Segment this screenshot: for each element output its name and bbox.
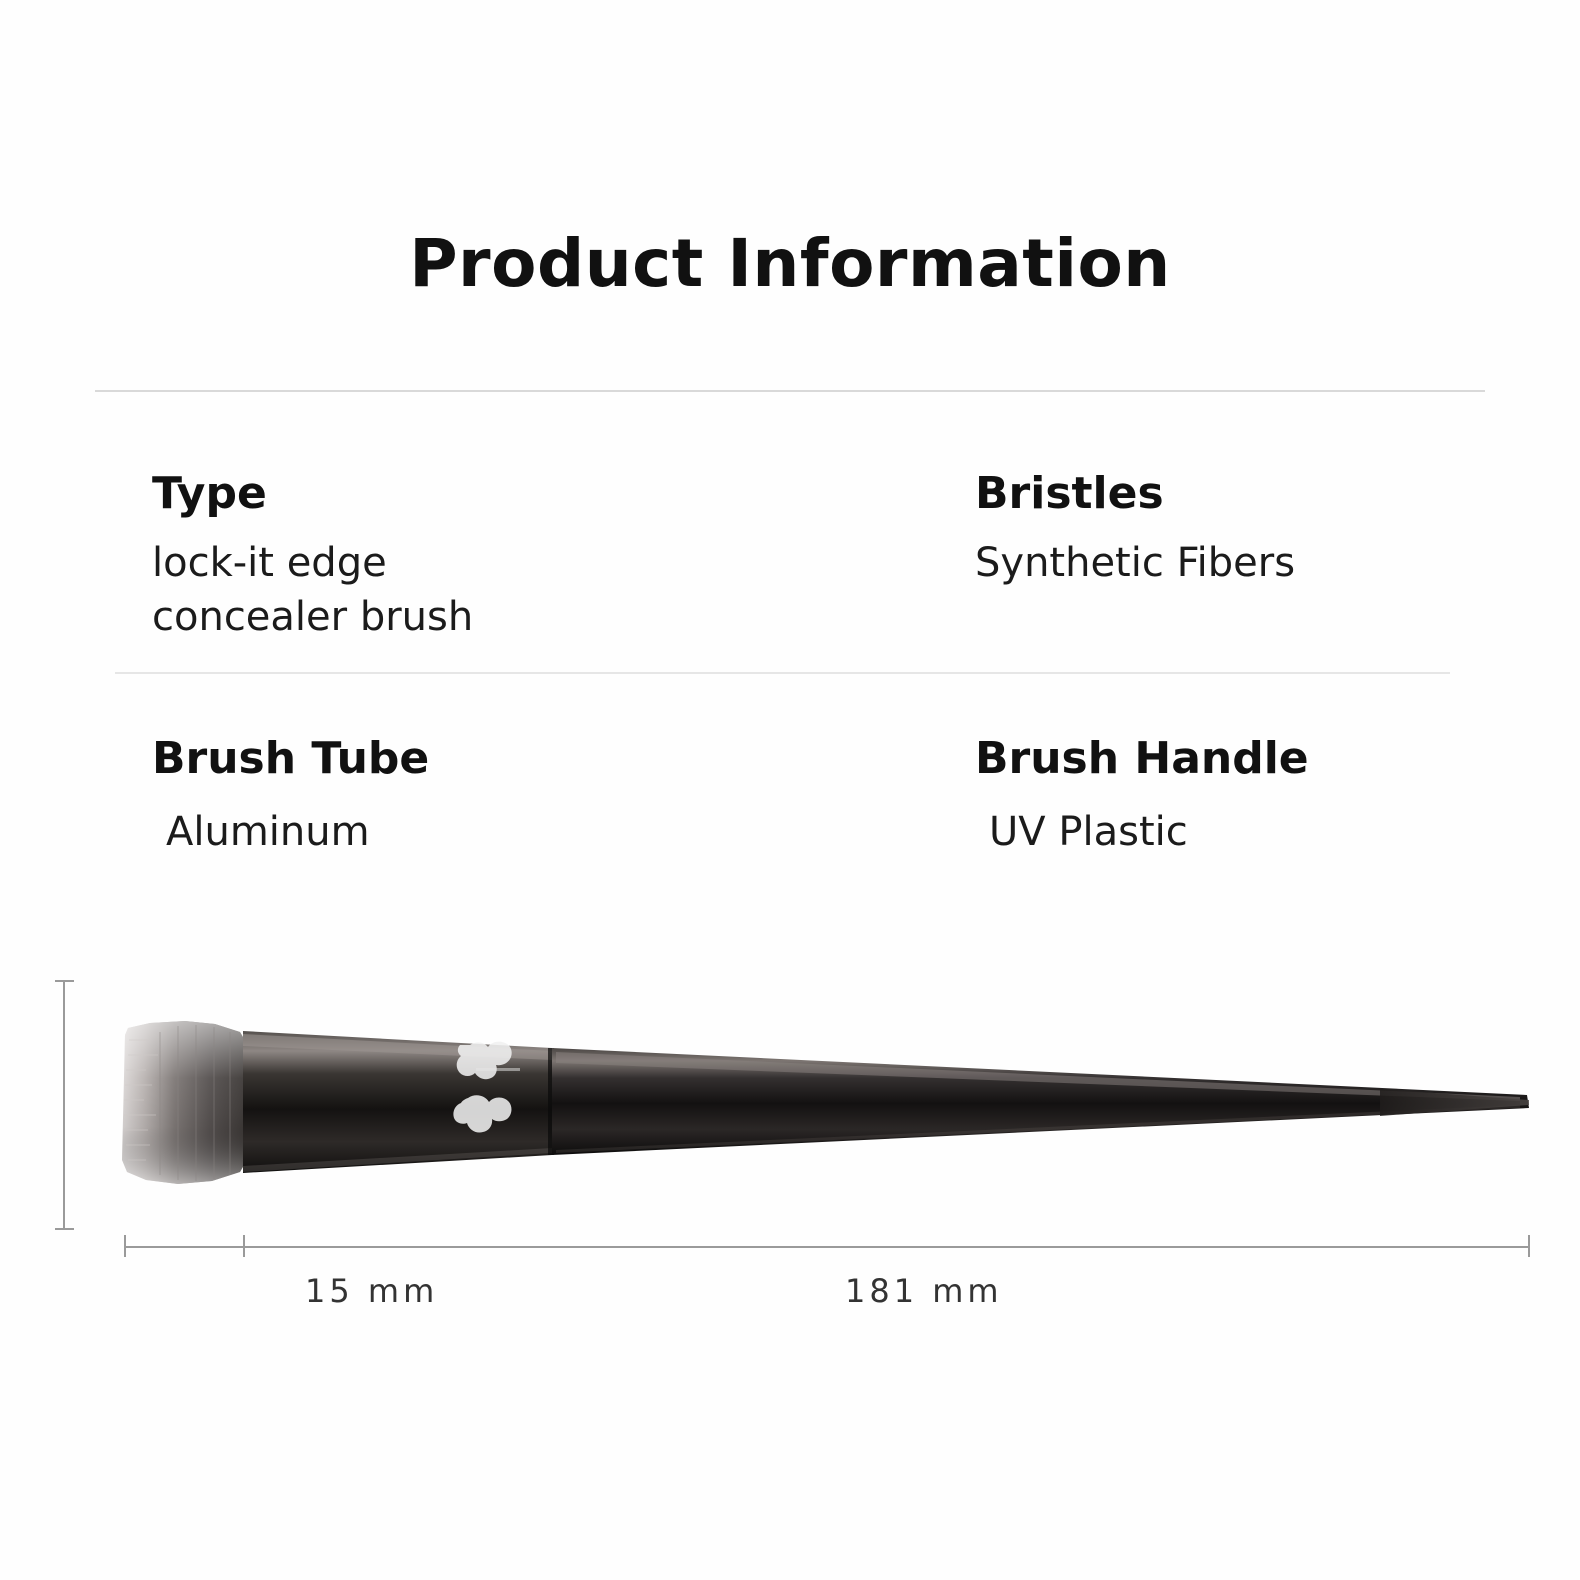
spec-brush-handle: Brush Handle UV Plastic [975, 735, 1309, 859]
brush-bristles [122, 1021, 247, 1184]
spec-bristles: Bristles Synthetic Fibers [975, 470, 1295, 590]
brush-head-dimension-label: 15 mm [305, 1272, 438, 1310]
horizontal-dimension-line [124, 1246, 1529, 1248]
vertical-dimension-cap-bottom [55, 1228, 74, 1230]
horizontal-tick-middle [243, 1235, 245, 1257]
page-title: Product Information [0, 225, 1580, 302]
spec-type-label: Type [152, 470, 473, 518]
spec-brush-tube-label: Brush Tube [152, 735, 429, 783]
spec-bristles-value: Synthetic Fibers [975, 536, 1295, 590]
spec-brush-tube-value: Aluminum [152, 805, 429, 859]
vertical-dimension-cap-top [55, 980, 74, 982]
spec-brush-tube: Brush Tube Aluminum [152, 735, 429, 859]
product-information-page: Product Information Type lock-it edge co… [0, 0, 1580, 1580]
brand-logo-icon [453, 1042, 520, 1133]
divider-middle [115, 672, 1450, 674]
horizontal-tick-left [124, 1235, 126, 1257]
spec-bristles-label: Bristles [975, 470, 1295, 518]
divider-top [95, 390, 1485, 392]
spec-type-value: lock-it edge concealer brush [152, 536, 473, 644]
spec-type-value-line1: lock-it edge [152, 536, 473, 590]
vertical-dimension-line [63, 980, 65, 1230]
horizontal-tick-right [1528, 1235, 1530, 1257]
handle-dimension-label: 181 mm [845, 1272, 1003, 1310]
brush-handle [552, 1048, 1529, 1155]
spec-brush-handle-label: Brush Handle [975, 735, 1309, 783]
spec-type: Type lock-it edge concealer brush [152, 470, 473, 644]
spec-brush-handle-value: UV Plastic [975, 805, 1309, 859]
spec-type-value-line2: concealer brush [152, 590, 473, 644]
brush-ferrule [243, 1031, 554, 1173]
